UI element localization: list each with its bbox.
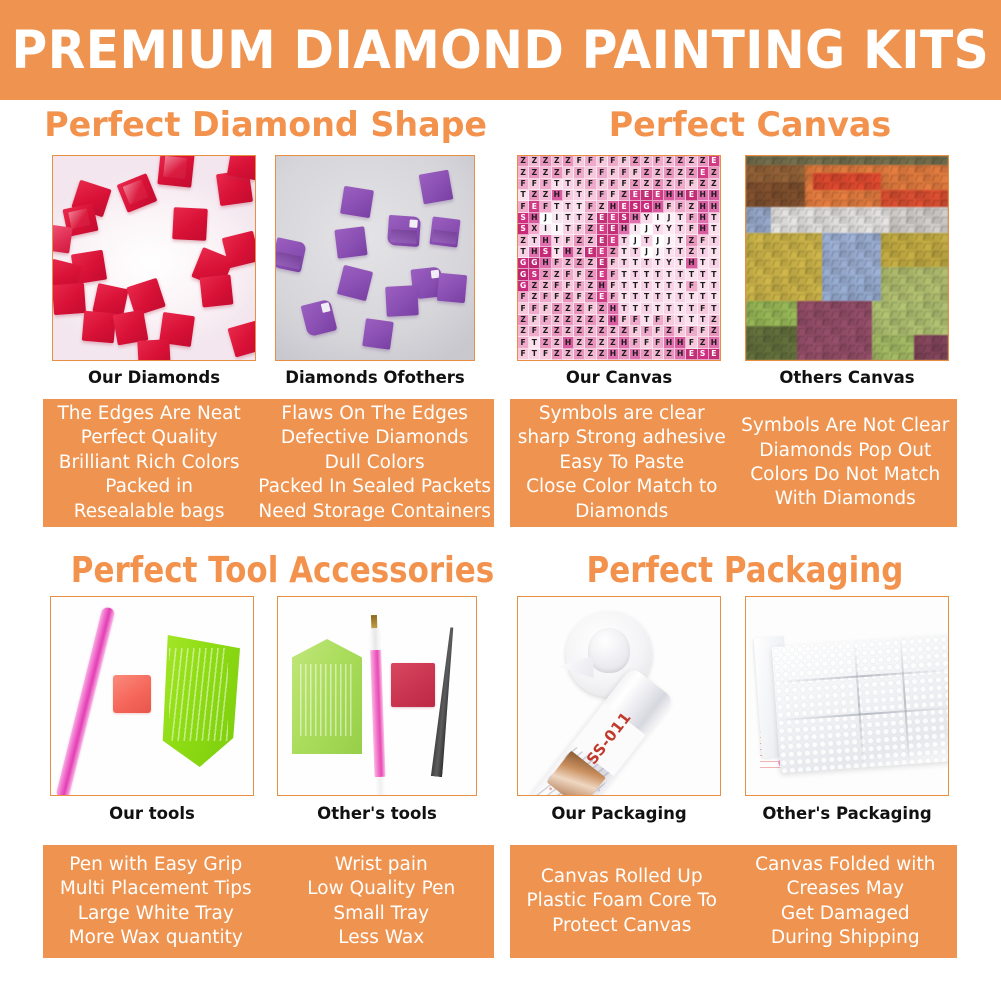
canvas-blur-cell (872, 275, 880, 284)
canvas-symbol-cell: F (552, 292, 563, 303)
canvas-blur-cell (889, 284, 897, 293)
canvas-blur-cell (898, 165, 906, 174)
canvas-blur-cell (746, 190, 754, 199)
canvas-blur-cell (805, 182, 813, 191)
canvas-symbol-cell: Z (552, 315, 563, 326)
canvas-blur-cell (889, 335, 897, 344)
canvas-blur-cell (797, 292, 805, 301)
canvas-blur-cell (940, 199, 948, 208)
canvas-blur-cell (797, 165, 805, 174)
canvas-blur-cell (872, 343, 880, 352)
canvas-blur-cell (822, 173, 830, 182)
canvas-blur-cell (805, 190, 813, 199)
canvas-blur-cell (830, 343, 838, 352)
canvas-blur-cell (940, 173, 948, 182)
canvas-blur-cell (847, 250, 855, 259)
canvas-blur-cell (889, 241, 897, 250)
canvas-blur-cell (940, 233, 948, 242)
canvas-symbol-cell: T (698, 247, 709, 258)
canvas-blur-cell (906, 233, 914, 242)
canvas-blur-cell (813, 258, 821, 267)
canvas-blur-cell (914, 207, 922, 216)
canvas-symbol-cell: F (630, 337, 641, 348)
canvas-blur-cell (771, 335, 779, 344)
canvas-symbol-cell: E (608, 224, 619, 235)
canvas-blur-cell (881, 343, 889, 352)
canvas-symbol-cell: I (552, 213, 563, 224)
canvas-symbol-cell: H (664, 337, 675, 348)
canvas-symbol-cell: E (686, 190, 697, 201)
canvas-blur-cell (771, 284, 779, 293)
canvas-blur-cell (754, 258, 762, 267)
canvas-blur-cell (881, 182, 889, 191)
canvas-blur-cell (805, 318, 813, 327)
canvas-blur-cell (763, 233, 771, 242)
canvas-blur-cell (746, 165, 754, 174)
canvas-blur-cell (822, 250, 830, 259)
canvas-symbol-cell: F (608, 269, 619, 280)
canvas-blur-cell (746, 156, 754, 165)
canvas-blur-cell (763, 267, 771, 276)
canvas-blur-cell (847, 182, 855, 191)
canvas-symbol-cell: T (552, 247, 563, 258)
canvas-blur-cell (855, 190, 863, 199)
canvas-symbol-cell: T (619, 303, 630, 314)
canvas-symbol-cell: Z (630, 179, 641, 190)
canvas-blur-cell (881, 216, 889, 225)
canvas-blur-cell (805, 207, 813, 216)
canvas-symbol-cell: Z (529, 281, 540, 292)
canvas-symbol-cell: Z (698, 337, 709, 348)
canvas-symbol-cell: F (608, 281, 619, 292)
canvas-blur-cell (864, 275, 872, 284)
canvas-blur-cell (763, 241, 771, 250)
canvas-blur-cell (813, 292, 821, 301)
canvas-symbol-cell: F (529, 315, 540, 326)
canvas-blur-cell (746, 241, 754, 250)
canvas-symbol-cell: H (653, 201, 664, 212)
canvas-blur-cell (923, 182, 931, 191)
canvas-blur-cell (813, 190, 821, 199)
canvas-blur-cell (754, 165, 762, 174)
canvas-symbol-cell: Z (574, 247, 585, 258)
canvas-blur-cell (754, 335, 762, 344)
canvas-blur-cell (822, 224, 830, 233)
canvas-symbol-cell: T (641, 315, 652, 326)
canvas-symbol-cell: Z (585, 281, 596, 292)
canvas-blur-cell (881, 233, 889, 242)
canvas-blur-cell (898, 250, 906, 259)
canvas-blur-cell (813, 250, 821, 259)
canvas-blur-cell (797, 318, 805, 327)
panel-line: Need Storage Containers (258, 500, 491, 524)
canvas-symbol-cell: F (641, 326, 652, 337)
canvas-blur-cell (906, 258, 914, 267)
canvas-blur-cell (906, 182, 914, 191)
canvas-blur-cell (923, 233, 931, 242)
canvas-symbol-cell: Z (574, 258, 585, 269)
canvas-blur-cell (889, 309, 897, 318)
canvas-blur-cell (940, 275, 948, 284)
caption-our-tools: Our tools (50, 804, 254, 823)
canvas-symbol-cell: F (686, 337, 697, 348)
canvas-blur-cell (780, 207, 788, 216)
canvas-symbol-cell: F (608, 179, 619, 190)
canvas-symbol-cell: E (608, 235, 619, 246)
canvas-symbol-cell: Z (675, 167, 686, 178)
canvas-symbol-cell: Z (540, 337, 551, 348)
canvas-symbol-cell: Z (585, 213, 596, 224)
canvas-blur-cell (898, 156, 906, 165)
canvas-symbol-cell: Z (540, 167, 551, 178)
canvas-symbol-cell: T (518, 190, 529, 201)
canvas-blur-cell (813, 241, 821, 250)
panel-column-others: Wrist painLow Quality PenSmall TrayLess … (269, 853, 495, 951)
canvas-blur-cell (872, 190, 880, 199)
canvas-symbol-cell: T (641, 258, 652, 269)
canvas-symbol-cell: F (698, 235, 709, 246)
canvas-blur-cell (855, 267, 863, 276)
panel-line: Large White Tray (46, 902, 266, 926)
canvas-symbol-cell: H (630, 213, 641, 224)
canvas-blur-cell (881, 250, 889, 259)
canvas-blur-cell (931, 207, 939, 216)
canvas-blur-cell (763, 309, 771, 318)
canvas-symbol-cell: F (664, 315, 675, 326)
canvas-blur-cell (822, 182, 830, 191)
canvas-symbol-cell: T (529, 349, 540, 360)
canvas-blur-cell (847, 292, 855, 301)
canvas-blur-cell (797, 182, 805, 191)
canvas-blur-cell (822, 335, 830, 344)
canvas-blur-cell (763, 335, 771, 344)
canvas-symbol-cell: J (653, 247, 664, 258)
canvas-symbol-cell: F (630, 326, 641, 337)
canvas-symbol-cell: F (585, 190, 596, 201)
drill-tray (156, 635, 240, 767)
canvas-symbol-cell: J (653, 235, 664, 246)
canvas-blur-cell (805, 335, 813, 344)
canvas-symbol-cell: T (709, 281, 720, 292)
canvas-blur-cell (830, 275, 838, 284)
canvas-symbol-cell: T (563, 224, 574, 235)
canvas-blur-cell (898, 309, 906, 318)
canvas-symbol-cell: J (630, 235, 641, 246)
canvas-blur-cell (788, 343, 796, 352)
canvas-blur-cell (864, 309, 872, 318)
canvas-blur-cell (822, 233, 830, 242)
canvas-blur-cell (813, 335, 821, 344)
canvas-blur-cell (780, 335, 788, 344)
canvas-blur-cell (780, 182, 788, 191)
canvas-symbol-cell: F (529, 303, 540, 314)
canvas-blur-cell (788, 233, 796, 242)
canvas-symbol-cell: T (675, 258, 686, 269)
canvas-blur-cell (872, 216, 880, 225)
canvas-blur-cell (839, 156, 847, 165)
canvas-symbol-cell: T (641, 303, 652, 314)
canvas-blur-cell (780, 267, 788, 276)
canvas-blur-cell (914, 301, 922, 310)
purple-drill-deformed (387, 215, 421, 247)
canvas-blur-cell (788, 207, 796, 216)
canvas-blur-cell (746, 216, 754, 225)
canvas-blur-cell (788, 156, 796, 165)
canvas-blur-cell (872, 233, 880, 242)
canvas-blur-cell (780, 275, 788, 284)
canvas-blur-cell (754, 199, 762, 208)
canvas-symbol-cell: F (540, 303, 551, 314)
canvas-symbol-cell: F (619, 315, 630, 326)
canvas-blur-cell (830, 258, 838, 267)
canvas-symbol-cell: Z (608, 337, 619, 348)
canvas-blur-cell (889, 207, 897, 216)
canvas-blur-cell (940, 301, 948, 310)
panel-line: Dull Colors (258, 451, 491, 475)
canvas-symbol-cell: F (698, 303, 709, 314)
canvas-symbol-cell: T (653, 269, 664, 280)
canvas-blur-cell (847, 343, 855, 352)
canvas-symbol-cell: F (653, 337, 664, 348)
canvas-symbol-cell: Z (664, 179, 675, 190)
panel-line: Perfect Quality (46, 426, 252, 450)
canvas-symbol-cell: Z (529, 167, 540, 178)
canvas-blur-cell (923, 267, 931, 276)
canvas-symbol-cell: Z (574, 303, 585, 314)
panel-diamond-shape: The Edges Are NeatPerfect QualityBrillia… (43, 399, 494, 527)
canvas-symbol-cell: Z (574, 326, 585, 337)
caption-our-canvas: Our Canvas (517, 368, 721, 387)
canvas-blur-cell (822, 343, 830, 352)
canvas-blur-cell (813, 309, 821, 318)
canvas-symbol-cell: T (630, 258, 641, 269)
canvas-blur-cell (813, 343, 821, 352)
canvas-symbol-cell: F (518, 201, 529, 212)
canvas-blur-cell (898, 224, 906, 233)
canvas-symbol-cell: G (518, 269, 529, 280)
canvas-blur-cell (788, 301, 796, 310)
page-title: PREMIUM DIAMOND PAINTING KITS (12, 20, 990, 81)
canvas-blur-cell (805, 165, 813, 174)
canvas-symbol-cell: S (518, 224, 529, 235)
canvas-blur-cell (822, 284, 830, 293)
canvas-blur-cell (931, 182, 939, 191)
canvas-blur-cell (931, 258, 939, 267)
canvas-blur-cell (898, 275, 906, 284)
canvas-symbol-cell: H (698, 201, 709, 212)
canvas-symbol-cell: H (709, 201, 720, 212)
canvas-symbol-cell: Z (664, 349, 675, 360)
canvas-blur-cell (830, 233, 838, 242)
canvas-symbol-cell: E (529, 201, 540, 212)
canvas-symbol-cell: H (563, 337, 574, 348)
canvas-symbol-cell: E (597, 258, 608, 269)
canvas-blur-cell (813, 199, 821, 208)
canvas-blur-cell (754, 250, 762, 259)
canvas-blur-cell (780, 216, 788, 225)
canvas-symbol-cell: T (664, 247, 675, 258)
canvas-blur-cell (889, 326, 897, 335)
canvas-blur-cell (763, 292, 771, 301)
canvas-symbol-cell: H (529, 213, 540, 224)
canvas-blur-cell (889, 216, 897, 225)
purple-drill (419, 170, 454, 205)
canvas-symbol-cell: T (698, 269, 709, 280)
canvas-blur-cell (771, 233, 779, 242)
canvas-blur-cell (881, 156, 889, 165)
canvas-blur-cell (923, 326, 931, 335)
canvas-blur-cell (754, 309, 762, 318)
purple-drill (340, 186, 374, 218)
canvas-blur-cell (855, 165, 863, 174)
canvas-symbol-cell: F (585, 156, 596, 167)
canvas-blur-cell (898, 241, 906, 250)
canvas-symbol-cell: Z (574, 349, 585, 360)
canvas-symbol-cell: Z (552, 156, 563, 167)
canvas-symbol-cell: T (664, 269, 675, 280)
canvas-symbol-cell: E (619, 201, 630, 212)
canvas-blur-cell (780, 233, 788, 242)
red-drill (52, 283, 86, 315)
canvas-blur-cell (906, 301, 914, 310)
canvas-blur-cell (788, 292, 796, 301)
drill-facet (432, 229, 457, 244)
canvas-blur-cell (763, 326, 771, 335)
canvas-blur-cell (898, 233, 906, 242)
canvas-symbol-cell: T (552, 201, 563, 212)
red-drill (200, 274, 234, 307)
canvas-blur-cell (864, 335, 872, 344)
canvas-blur-cell (906, 275, 914, 284)
canvas-blur-cell (914, 326, 922, 335)
canvas-blur-cell (940, 352, 948, 361)
canvas-blur-cell (914, 241, 922, 250)
canvas-blur-cell (906, 292, 914, 301)
canvas-blur-cell (780, 199, 788, 208)
canvas-blur-cell (839, 301, 847, 310)
panel-line: Diamonds Pop Out (737, 439, 955, 463)
canvas-blur-cell (746, 318, 754, 327)
canvas-blur-cell (805, 275, 813, 284)
canvas-blur-cell (830, 199, 838, 208)
canvas-symbol-cell: T (641, 269, 652, 280)
canvas-blur-cell (830, 309, 838, 318)
canvas-blur-cell (847, 309, 855, 318)
canvas-symbol-cell: F (686, 326, 697, 337)
canvas-blur-cell (855, 309, 863, 318)
canvas-symbol-cell: Z (563, 156, 574, 167)
canvas-blur-cell (805, 233, 813, 242)
canvas-symbol-cell: F (597, 179, 608, 190)
canvas-blur-cell (847, 216, 855, 225)
canvas-symbol-cell: Z (552, 337, 563, 348)
panel-line: Packed In Sealed Packets (258, 475, 491, 499)
canvas-blur-cell (855, 173, 863, 182)
canvas-symbol-cell: F (574, 224, 585, 235)
canvas-blur-cell (864, 301, 872, 310)
canvas-blur-cell (839, 233, 847, 242)
canvas-symbol-cell: H (698, 213, 709, 224)
canvas-blur-cell (746, 326, 754, 335)
bubble-mailer (772, 635, 949, 773)
panel-line: Get Damaged (737, 902, 955, 926)
canvas-blur-cell (898, 258, 906, 267)
canvas-symbol-cell: T (675, 269, 686, 280)
canvas-symbol-cell: F (563, 235, 574, 246)
canvas-blur-cell (797, 199, 805, 208)
canvas-blur-cell (855, 182, 863, 191)
canvas-symbol-cell: I (540, 224, 551, 235)
panel-line: sharp Strong adhesive (513, 426, 731, 450)
canvas-symbol-cell: H (563, 247, 574, 258)
canvas-blur-cell (898, 352, 906, 361)
panel-line: Protect Canvas (513, 914, 731, 938)
canvas-symbol-cell: F (574, 281, 585, 292)
canvas-blur-cell (754, 173, 762, 182)
canvas-symbol-cell: T (653, 292, 664, 303)
canvas-blur-cell (906, 318, 914, 327)
canvas-blur-cell (805, 292, 813, 301)
canvas-blur-cell (813, 207, 821, 216)
canvas-blur-cell (788, 326, 796, 335)
panel-line: Diamonds (513, 500, 731, 524)
canvas-symbol-cell: Z (641, 349, 652, 360)
others-canvas-photo (745, 155, 949, 361)
canvas-symbol-cell: H (619, 224, 630, 235)
canvas-symbol-cell: F (518, 349, 529, 360)
canvas-blur-cell (763, 301, 771, 310)
canvas-blur-cell (746, 292, 754, 301)
canvas-blur-cell (931, 326, 939, 335)
canvas-blur-cell (754, 326, 762, 335)
canvas-blur-cell (813, 284, 821, 293)
canvas-blur-cell (822, 301, 830, 310)
canvas-symbol-cell: Z (563, 292, 574, 303)
canvas-blur-cell (847, 224, 855, 233)
canvas-symbol-cell: Z (574, 337, 585, 348)
canvas-symbol-cell: Z (608, 326, 619, 337)
tube-label-text: SS-011 (580, 704, 639, 772)
canvas-blur-cell (754, 182, 762, 191)
canvas-symbol-cell: H (608, 315, 619, 326)
canvas-symbol-cell: E (630, 190, 641, 201)
canvas-blur-cell (872, 224, 880, 233)
canvas-symbol-cell: Z (597, 349, 608, 360)
canvas-blur-cell (931, 343, 939, 352)
canvas-blur-cell (914, 165, 922, 174)
canvas-blur-grid (746, 156, 948, 360)
canvas-blur-cell (864, 199, 872, 208)
canvas-symbol-cell: Z (619, 326, 630, 337)
canvas-symbol-cell: S (529, 269, 540, 280)
pen-cap (375, 777, 387, 796)
panel-packaging: Canvas Rolled UpPlastic Foam Core ToProt… (510, 845, 957, 958)
canvas-blur-cell (813, 267, 821, 276)
canvas-blur-cell (788, 190, 796, 199)
canvas-blur-cell (872, 335, 880, 344)
canvas-symbol-cell: Z (529, 190, 540, 201)
canvas-blur-cell (754, 318, 762, 327)
canvas-blur-cell (780, 241, 788, 250)
canvas-symbol-cell: H (608, 349, 619, 360)
canvas-symbol-cell: F (686, 179, 697, 190)
canvas-blur-cell (889, 190, 897, 199)
canvas-blur-cell (797, 207, 805, 216)
canvas-blur-cell (780, 156, 788, 165)
canvas-symbol-cell: Z (597, 201, 608, 212)
canvas-symbol-cell: E (597, 235, 608, 246)
canvas-blur-cell (881, 165, 889, 174)
